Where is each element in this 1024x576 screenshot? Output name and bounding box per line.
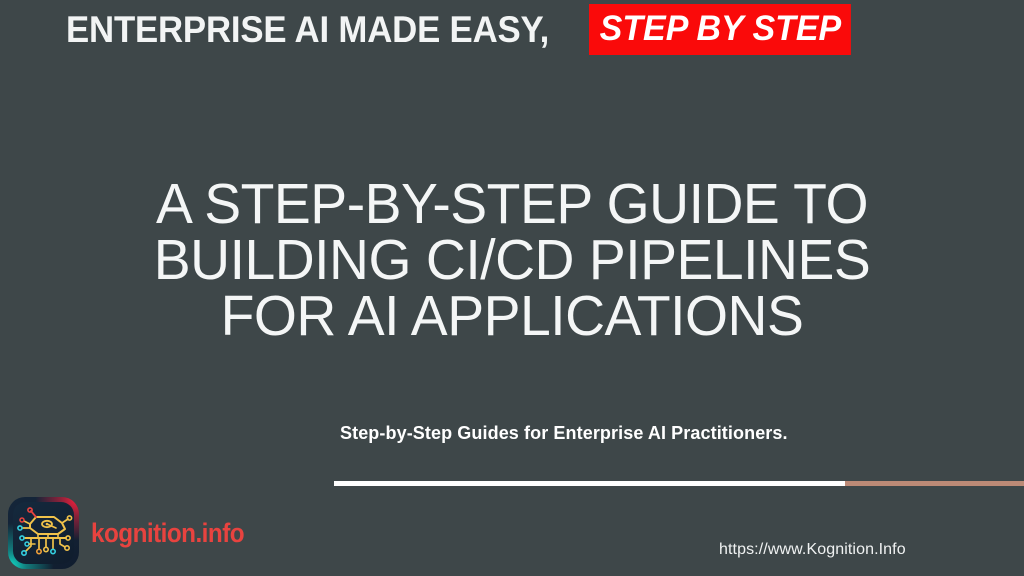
circuit-traces-graphic (8, 497, 79, 569)
divider (334, 481, 1024, 486)
presentation-slide: ENTERPRISE AI MADE EASY, STEP BY STEP A … (0, 0, 1024, 576)
page-title-line-1: A STEP-BY-STEP GUIDE TO (39, 176, 986, 232)
eyebrow-plain-text: ENTERPRISE AI MADE EASY, (66, 11, 549, 48)
subtitle-text: Step-by-Step Guides for Enterprise AI Pr… (340, 423, 788, 444)
page-title-line-2: BUILDING CI/CD PIPELINES (39, 232, 986, 288)
brand-wordmark: kognition.info (91, 518, 244, 549)
eyebrow-line: ENTERPRISE AI MADE EASY, STEP BY STEP (66, 4, 859, 54)
circuit-brain-logo-icon (8, 497, 79, 569)
footer-url: https://www.Kognition.Info (719, 541, 906, 559)
page-title-line-3: FOR AI APPLICATIONS (39, 288, 986, 344)
brand-lockup: kognition.info (8, 497, 261, 569)
page-title: A STEP-BY-STEP GUIDE TO BUILDING CI/CD P… (39, 176, 986, 344)
divider-primary-segment (334, 481, 845, 486)
eyebrow-highlight-badge: STEP BY STEP (589, 4, 851, 55)
divider-secondary-segment (845, 481, 1024, 486)
